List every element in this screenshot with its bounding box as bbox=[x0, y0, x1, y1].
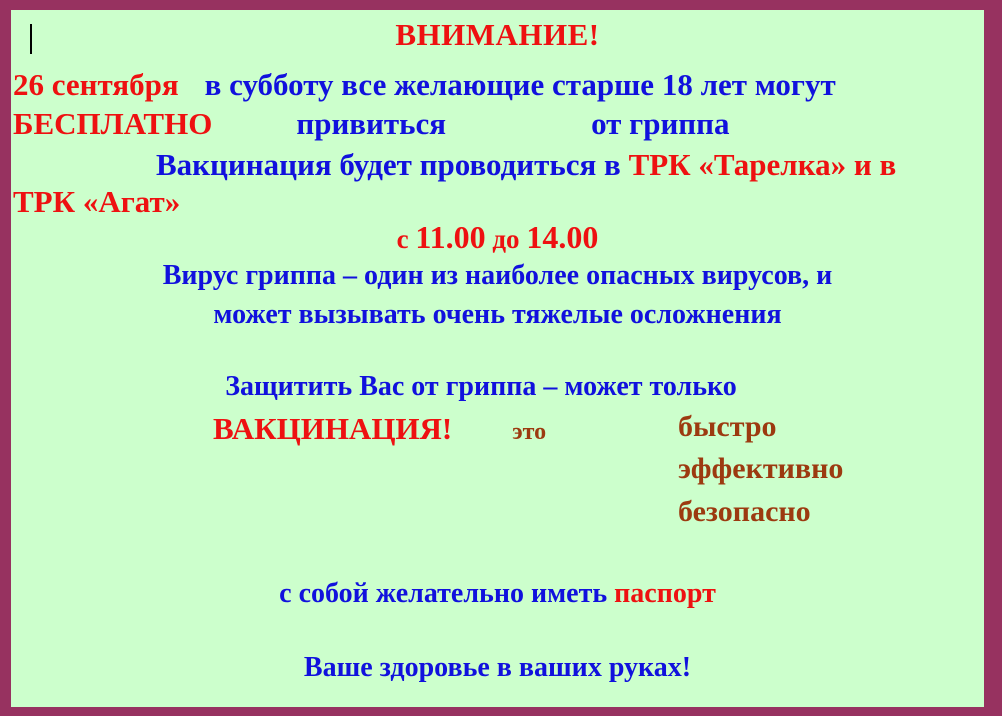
date-rest-text: в субботу все желающие старше 18 лет мог… bbox=[205, 67, 836, 102]
poster-frame: ВНИМАНИЕ! 26 сентябряв субботу все желаю… bbox=[0, 0, 1002, 716]
free-word: БЕСПЛАТНО bbox=[13, 106, 212, 141]
time-line: с 11.00 до 14.00 bbox=[11, 221, 984, 253]
free-action-word: привиться bbox=[296, 106, 446, 141]
venue-line-1: Вакцинация будет проводиться в ТРК «Таре… bbox=[156, 149, 896, 180]
benefit-fast: быстро bbox=[678, 412, 777, 442]
vaccination-it-is-word: это bbox=[512, 419, 546, 445]
passport-word: паспорт bbox=[614, 578, 716, 609]
passport-line: с собой желательно иметь паспорт bbox=[11, 580, 984, 608]
venue-name-1: ТРК «Тарелка» и в bbox=[629, 147, 897, 182]
venue-prefix: Вакцинация будет проводиться в bbox=[156, 147, 629, 182]
time-to-label: до bbox=[486, 224, 527, 254]
time-start: 11.00 bbox=[415, 219, 485, 255]
time-from-label: с bbox=[397, 224, 416, 254]
passport-prefix: с собой желательно иметь bbox=[279, 578, 614, 609]
benefit-effective: эффективно bbox=[678, 454, 843, 484]
venue-name-2: ТРК «Агат» bbox=[13, 186, 180, 217]
health-slogan: Ваше здоровье в ваших руках! bbox=[11, 654, 984, 682]
date-line: 26 сентябряв субботу все желающие старше… bbox=[13, 69, 836, 100]
attention-heading: ВНИМАНИЕ! bbox=[11, 19, 984, 50]
virus-info-line-2: может вызывать очень тяжелые осложнения bbox=[11, 301, 984, 329]
vaccination-word: ВАКЦИНАЦИЯ! bbox=[213, 411, 452, 446]
free-against-word: от гриппа bbox=[591, 106, 729, 141]
protection-line: Защитить Вас от гриппа – может только bbox=[11, 373, 951, 401]
free-vaccination-line: БЕСПЛАТНОпривитьсяот гриппа bbox=[13, 108, 730, 139]
date-text: 26 сентября bbox=[13, 67, 179, 102]
poster-canvas: ВНИМАНИЕ! 26 сентябряв субботу все желаю… bbox=[11, 10, 984, 707]
benefit-safe: безопасно bbox=[678, 497, 811, 527]
virus-info-line-1: Вирус гриппа – один из наиболее опасных … bbox=[11, 262, 984, 290]
time-end: 14.00 bbox=[526, 219, 598, 255]
vaccination-line: ВАКЦИНАЦИЯ!это bbox=[213, 413, 546, 444]
